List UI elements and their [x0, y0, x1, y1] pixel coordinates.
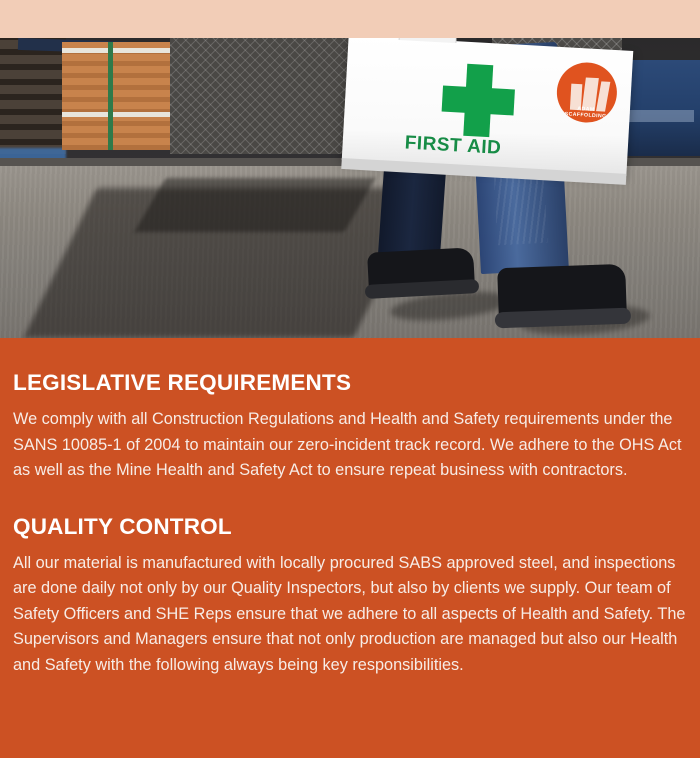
content-panel: LEGISLATIVE REQUIREMENTS We comply with …	[0, 338, 700, 758]
top-accent-bar	[0, 0, 700, 38]
worker-boot-back	[367, 247, 475, 292]
section-body-legislative-requirements: We comply with all Construction Regulati…	[13, 407, 687, 484]
first-aid-box: FIRST AID ADAM SCAFFOLDING	[342, 38, 634, 176]
section-heading-quality-control: QUALITY CONTROL	[13, 484, 687, 540]
timber-pallet	[62, 42, 180, 150]
first-aid-label: FIRST AID	[404, 132, 575, 163]
section-body-quality-control: All our material is manufactured with lo…	[13, 551, 687, 679]
steel-stack	[0, 38, 66, 154]
adam-scaffolding-logo: ADAM SCAFFOLDING	[555, 61, 618, 124]
cast-shadow-box	[134, 178, 375, 232]
section-heading-legislative-requirements: LEGISLATIVE REQUIREMENTS	[13, 338, 687, 396]
logo-arc-text: ADAM SCAFFOLDING	[555, 105, 616, 120]
hero-photo: FIRST AID ADAM SCAFFOLDING	[0, 38, 700, 338]
first-aid-box-handle	[399, 38, 458, 43]
page-root: FIRST AID ADAM SCAFFOLDING LEGISLATIVE R…	[0, 0, 700, 758]
medical-cross-icon-bar	[442, 85, 515, 115]
pallet-band-top	[62, 48, 180, 53]
worker-boot-front	[497, 264, 627, 320]
pallet-strap	[108, 42, 113, 150]
pallet-band-bottom	[62, 112, 180, 117]
mesh-fence-left	[170, 38, 350, 154]
